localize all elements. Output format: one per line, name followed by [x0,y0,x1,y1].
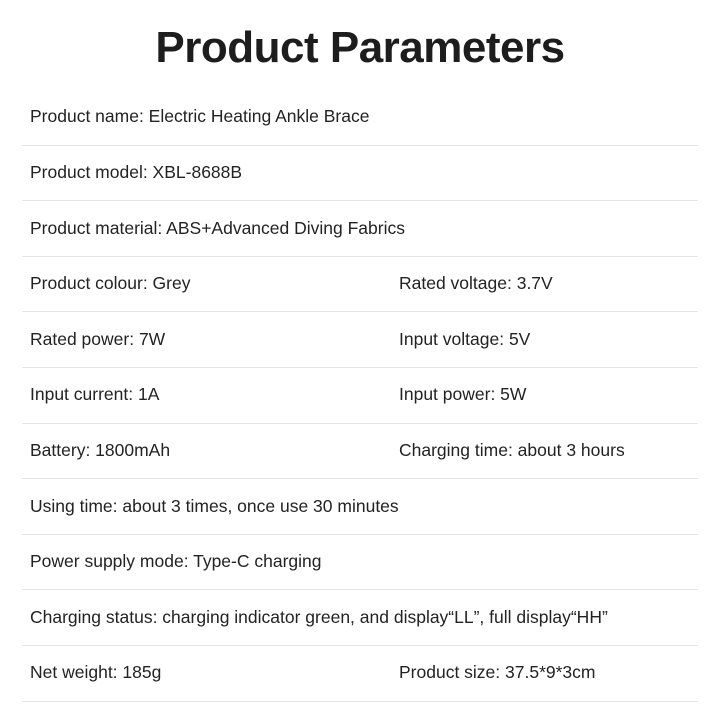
row-cell-left: Input current: 1A [22,384,399,406]
row-cell-right: Charging time: about 3 hours [399,440,698,462]
table-row: Charging status: charging indicator gree… [22,590,698,646]
parameter-text: Battery: 1800mAh [30,440,170,460]
table-row: Using time: about 3 times, once use 30 m… [22,479,698,535]
row-cell-left: Product material: ABS+Advanced Diving Fa… [22,218,698,240]
row-cell-right: Rated voltage: 3.7V [399,273,698,295]
row-cell-left: Net weight: 185g [22,662,399,684]
row-cell-left: Battery: 1800mAh [22,440,399,462]
parameters-table: Product name: Electric Heating Ankle Bra… [0,90,720,702]
table-row: Product material: ABS+Advanced Diving Fa… [22,201,698,257]
parameter-text: Rated voltage: 3.7V [399,273,553,293]
table-row: Battery: 1800mAh Charging time: about 3 … [22,424,698,480]
row-cell-left: Product name: Electric Heating Ankle Bra… [22,106,698,128]
parameter-text: Net weight: 185g [30,662,161,682]
row-cell-right: Input power: 5W [399,384,698,406]
parameter-text: Product material: ABS+Advanced Diving Fa… [30,218,405,238]
parameter-text: Input voltage: 5V [399,329,530,349]
parameter-text: Using time: about 3 times, once use 30 m… [30,496,399,516]
row-cell-left: Product model: XBL-8688B [22,162,698,184]
row-cell-left: Power supply mode: Type-C charging [22,551,698,573]
table-row: Product model: XBL-8688B [22,146,698,202]
page-title: Product Parameters [0,0,720,70]
parameter-text: Input current: 1A [30,384,159,404]
row-cell-left: Product colour: Grey [22,273,399,295]
row-cell-left: Using time: about 3 times, once use 30 m… [22,496,698,518]
parameter-text: Product colour: Grey [30,273,190,293]
row-cell-left: Charging status: charging indicator gree… [22,607,698,629]
product-parameters-page: Product Parameters Product name: Electri… [0,0,720,720]
parameter-text: Input power: 5W [399,384,526,404]
row-cell-left: Rated power: 7W [22,329,399,351]
parameter-text: Product model: XBL-8688B [30,162,242,182]
parameter-text: Rated power: 7W [30,329,165,349]
row-cell-right: Input voltage: 5V [399,329,698,351]
parameter-text: Power supply mode: Type-C charging [30,551,322,571]
table-row: Product name: Electric Heating Ankle Bra… [22,90,698,146]
table-row: Input current: 1A Input power: 5W [22,368,698,424]
parameter-text: Product name: Electric Heating Ankle Bra… [30,106,369,126]
row-cell-right: Product size: 37.5*9*3cm [399,662,698,684]
table-row: Power supply mode: Type-C charging [22,535,698,591]
table-row: Product colour: Grey Rated voltage: 3.7V [22,257,698,313]
parameter-text: Product size: 37.5*9*3cm [399,662,596,682]
parameter-text: Charging status: charging indicator gree… [30,607,608,627]
table-row: Net weight: 185g Product size: 37.5*9*3c… [22,646,698,702]
table-row: Rated power: 7W Input voltage: 5V [22,312,698,368]
parameter-text: Charging time: about 3 hours [399,440,625,460]
